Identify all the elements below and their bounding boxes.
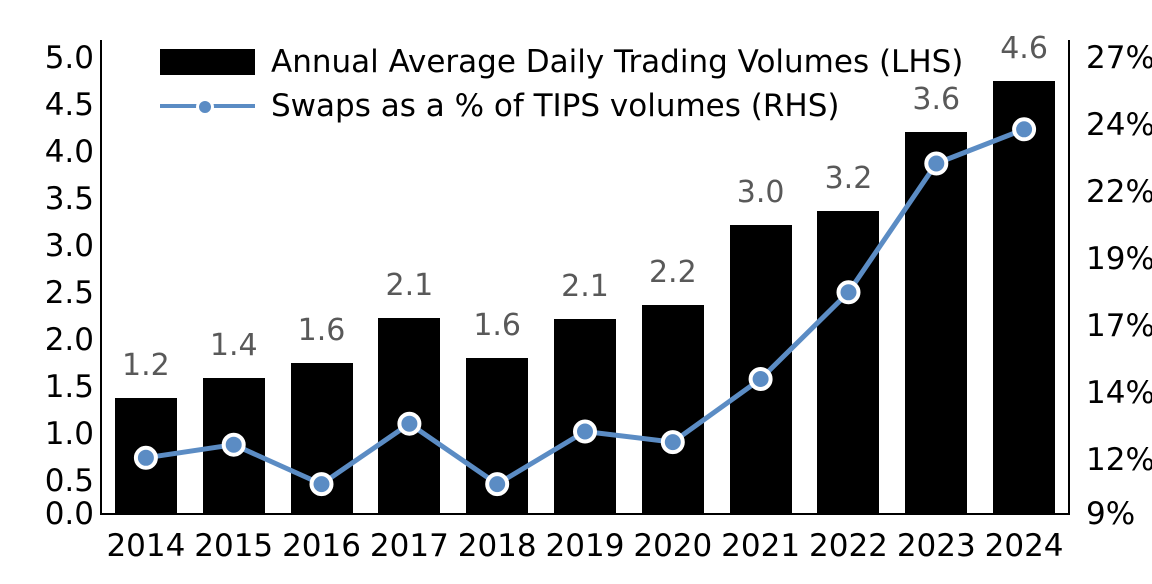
left-axis-tick: 1.0 bbox=[45, 419, 94, 450]
right-axis-tick: 14% bbox=[1086, 378, 1152, 409]
legend-item-line: Swaps as a % of TIPS volumes (RHS) bbox=[160, 84, 963, 128]
right-axis-tick: 9% bbox=[1086, 499, 1135, 530]
left-axis-tick: 2.5 bbox=[45, 278, 94, 309]
bar-value-label-2018: 1.6 bbox=[442, 308, 552, 343]
bar-2020 bbox=[642, 305, 704, 513]
x-tick-2024: 2024 bbox=[964, 528, 1084, 564]
bar-2019 bbox=[554, 319, 616, 513]
bar-2022 bbox=[817, 211, 879, 513]
left-axis-tick: 5.0 bbox=[45, 43, 94, 74]
bar-2015 bbox=[203, 378, 265, 513]
left-axis-tick: 0.0 bbox=[45, 499, 94, 530]
bar-2018 bbox=[466, 358, 528, 513]
right-axis-tick: 19% bbox=[1086, 244, 1152, 275]
right-axis-tick: 17% bbox=[1086, 311, 1152, 342]
bar-value-label-2024: 4.6 bbox=[969, 31, 1079, 66]
bar-value-label-2022: 3.2 bbox=[793, 161, 903, 196]
left-axis-tick: 3.5 bbox=[45, 184, 94, 215]
legend-label: Annual Average Daily Trading Volumes (LH… bbox=[271, 44, 963, 80]
legend-bar-swatch-icon bbox=[160, 49, 255, 75]
left-axis-line bbox=[100, 40, 102, 515]
legend-line-swatch-icon bbox=[160, 93, 255, 119]
left-axis-tick: 4.0 bbox=[45, 137, 94, 168]
right-axis-tick: 12% bbox=[1086, 445, 1152, 476]
legend-label: Swaps as a % of TIPS volumes (RHS) bbox=[271, 88, 839, 124]
bar-2021 bbox=[730, 225, 792, 513]
left-axis-tick: 2.0 bbox=[45, 325, 94, 356]
bottom-axis-line bbox=[100, 513, 1070, 515]
legend-item-bars: Annual Average Daily Trading Volumes (LH… bbox=[160, 40, 963, 84]
left-axis-tick: 0.5 bbox=[45, 466, 94, 497]
legend-line-marker-icon bbox=[196, 98, 214, 116]
bar-2014 bbox=[115, 398, 177, 513]
bar-2024 bbox=[993, 81, 1055, 513]
bar-value-label-2020: 2.2 bbox=[618, 255, 728, 290]
chart-container: 5.0 4.5 4.0 3.5 3.0 2.5 2.0 1.5 1.0 0.5 … bbox=[0, 0, 1152, 584]
right-axis-line bbox=[1068, 40, 1070, 515]
right-axis-tick: 27% bbox=[1086, 43, 1152, 74]
legend: Annual Average Daily Trading Volumes (LH… bbox=[160, 40, 963, 128]
bar-value-label-2017: 2.1 bbox=[354, 268, 464, 303]
right-axis-tick: 24% bbox=[1086, 110, 1152, 141]
left-axis-tick: 1.5 bbox=[45, 372, 94, 403]
bar-2017 bbox=[378, 318, 440, 513]
bar-value-label-2016: 1.6 bbox=[267, 313, 377, 348]
bar-2016 bbox=[291, 363, 353, 513]
bar-2023 bbox=[905, 132, 967, 513]
left-axis-tick: 3.0 bbox=[45, 231, 94, 262]
right-axis-tick: 22% bbox=[1086, 177, 1152, 208]
left-axis-tick: 4.5 bbox=[45, 90, 94, 121]
